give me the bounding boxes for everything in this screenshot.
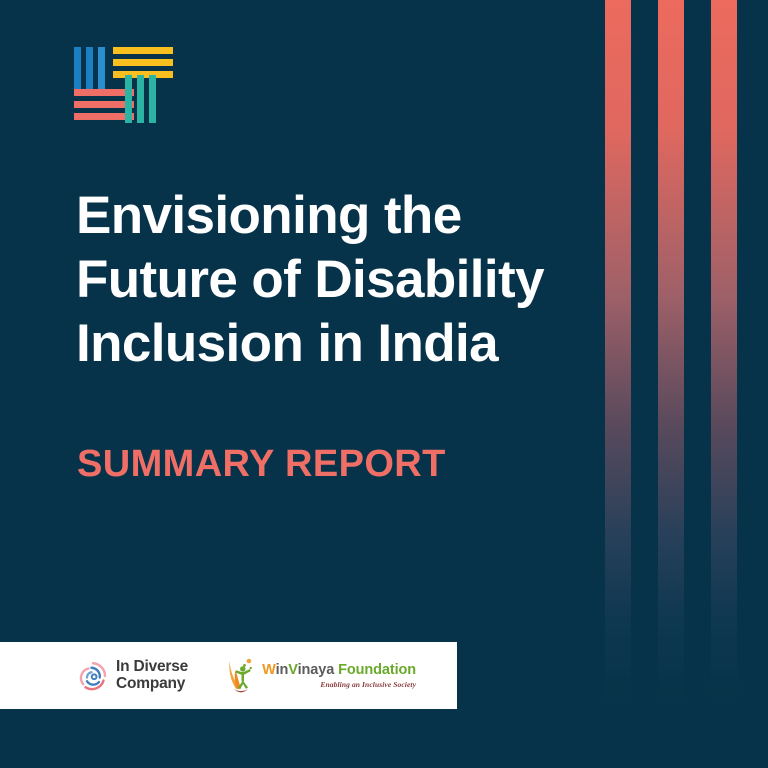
brand-logo-icon [74,43,150,123]
report-subtitle: SUMMARY REPORT [77,443,446,486]
page-title: Envisioning the Future of Disability Inc… [76,184,576,376]
stripe-2 [658,0,684,706]
logo-bar-teal-2 [137,75,144,123]
logo-bar-blue-1 [74,47,81,95]
winvinaya-tagline: Enabling an Inclusive Society [262,681,416,689]
in-diverse-company-wordmark: In Diverse Company [116,659,188,692]
wvf-w: W [262,662,275,678]
title-line-1: Envisioning the [76,184,576,248]
partner-logo-band: In Diverse Company WinVinaya [0,642,457,709]
logo-bar-teal-1 [125,75,132,123]
title-line-3: Inclusion in India [76,312,576,376]
idc-line-1: In Diverse [116,659,188,676]
winvinaya-name: WinVinaya Foundation [262,663,416,678]
logo-bar-yellow-1 [113,47,173,54]
decorative-stripes [603,0,768,768]
figure-icon [226,657,256,695]
logo-bar-blue-3 [98,47,105,95]
logo-bar-teal-3 [149,75,156,123]
wvf-foundation: Foundation [338,662,416,678]
logo-bar-blue-2 [86,47,93,95]
wvf-v: V [288,662,297,678]
title-line-2: Future of Disability [76,248,576,312]
report-cover: Envisioning the Future of Disability Inc… [0,0,768,768]
logo-bar-yellow-2 [113,59,173,66]
partner-winvinaya-foundation: WinVinaya Foundation Enabling an Inclusi… [226,657,416,695]
winvinaya-wordmark: WinVinaya Foundation Enabling an Inclusi… [262,663,416,689]
stripe-3 [711,0,737,706]
partner-in-diverse-company: In Diverse Company [78,659,188,692]
wvf-in: in [276,662,289,678]
stripe-1 [605,0,631,706]
idc-line-2: Company [116,676,188,693]
swirl-icon [78,661,108,691]
wvf-inaya: inaya [298,662,335,678]
